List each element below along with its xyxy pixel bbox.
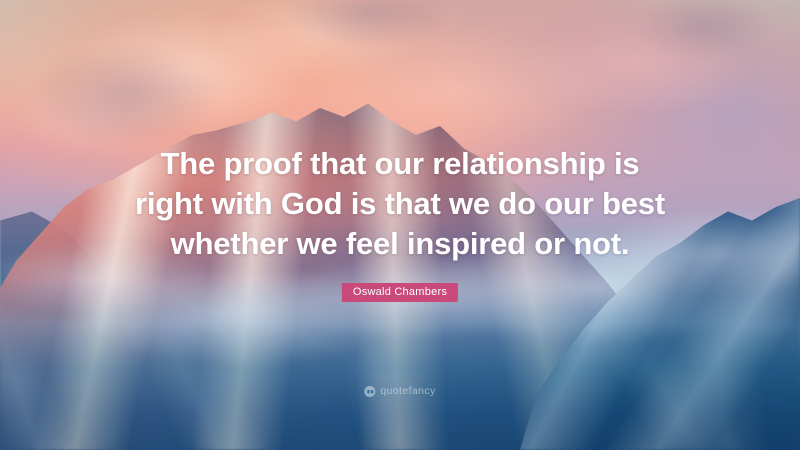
quote-text: The proof that our relationship is right…: [0, 144, 800, 264]
watermark-brand: quotefancy: [380, 386, 435, 397]
poster-content: The proof that our relationship is right…: [0, 0, 800, 450]
quote-line-1: The proof that our relationship is: [64, 144, 736, 184]
quotefancy-watermark: quotefancy: [364, 386, 435, 397]
author-badge: Oswald Chambers: [342, 283, 458, 302]
quote-line-3: whether we feel inspired or not.: [64, 224, 736, 264]
quote-line-2: right with God is that we do our best: [64, 184, 736, 224]
quote-poster: The proof that our relationship is right…: [0, 0, 800, 450]
quote-mark-icon: [364, 386, 375, 397]
